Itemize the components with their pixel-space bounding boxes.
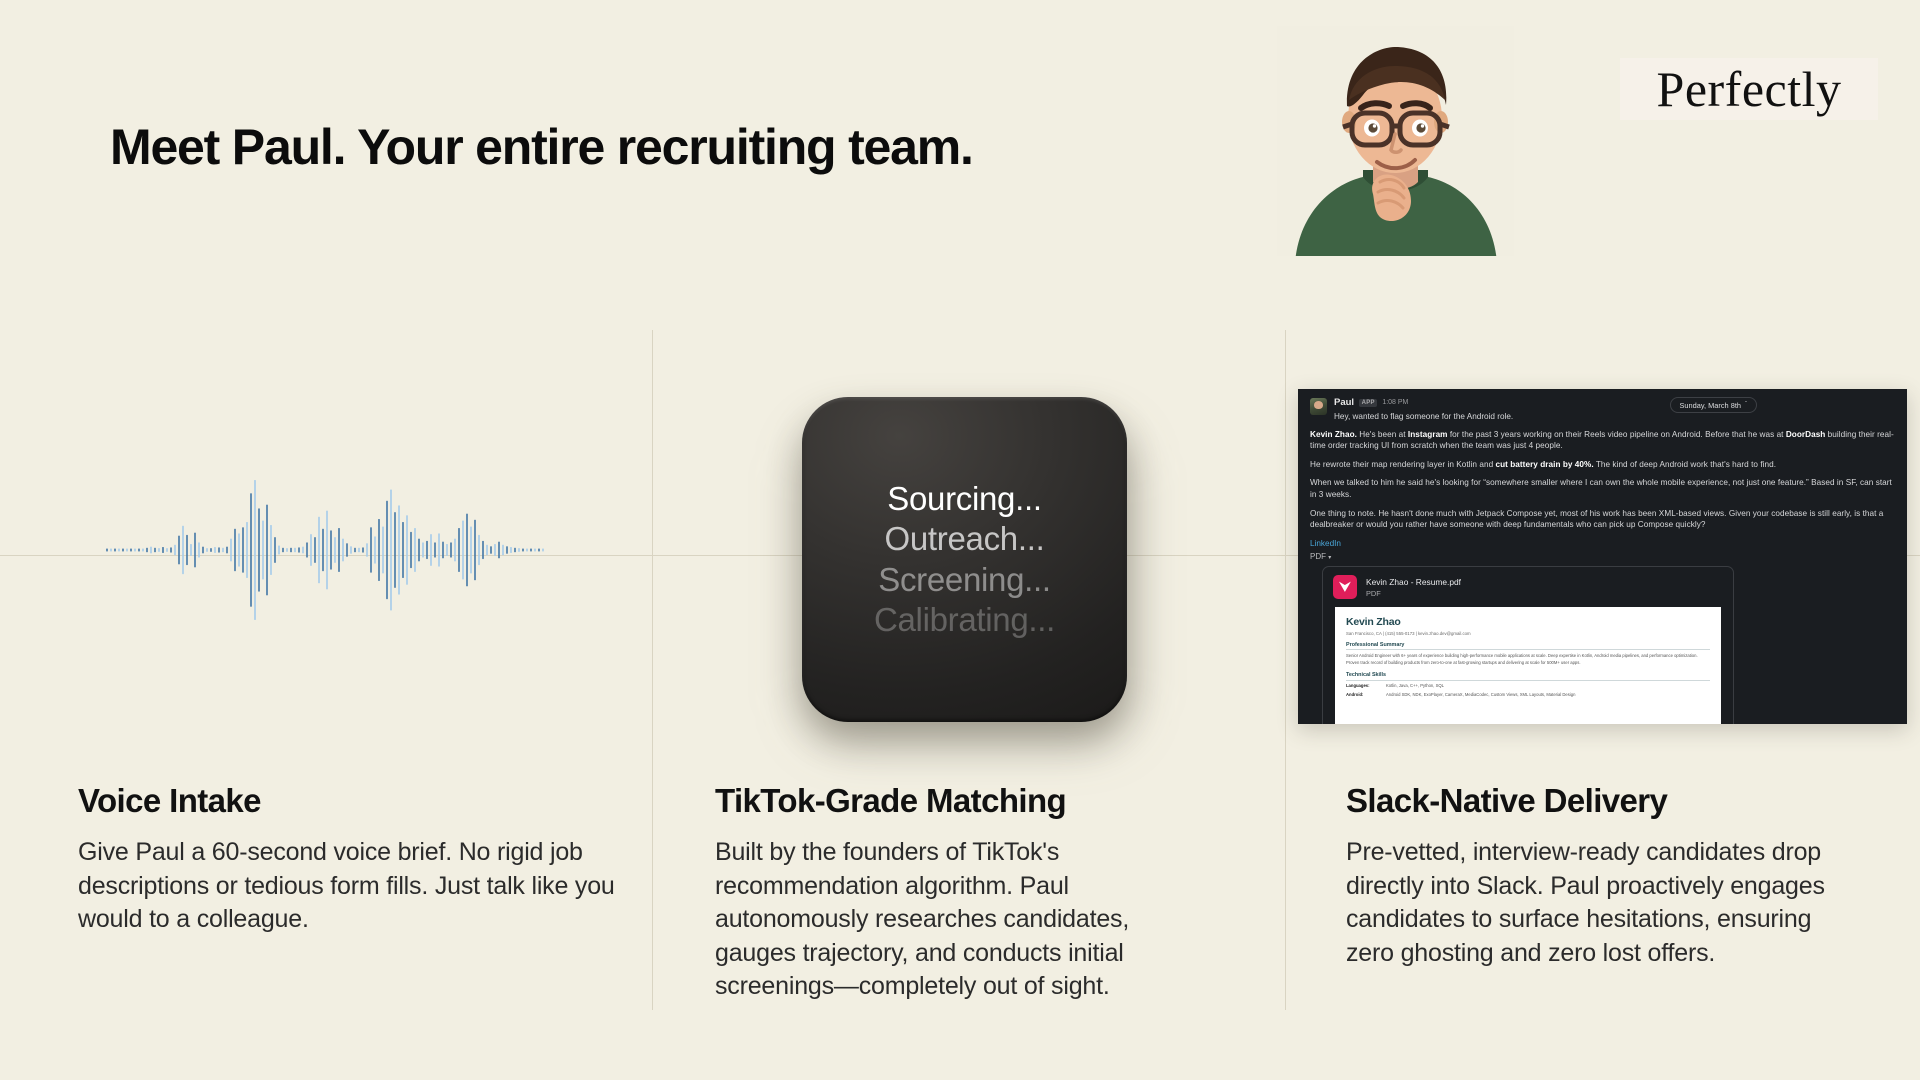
- slack-author-name[interactable]: Paul: [1334, 398, 1354, 408]
- slack-message-panel[interactable]: Sunday, March 8th ˇ Paul APP 1:08 PM Hey…: [1298, 389, 1907, 724]
- slack-date-label: Sunday, March 8th: [1680, 401, 1742, 410]
- divider-vertical-left: [652, 330, 653, 1010]
- slack-paragraph-2: When we talked to him he said he's looki…: [1310, 477, 1895, 500]
- brand-logo-text: Perfectly: [1657, 64, 1842, 114]
- resume-section-heading-0: Professional Summary: [1346, 642, 1710, 651]
- feature-title-0: Voice Intake: [78, 782, 618, 820]
- divider-vertical-right: [1285, 330, 1286, 1010]
- feature-body-2: Pre-vetted, interview-ready candidates d…: [1346, 836, 1856, 970]
- chip-status-line-1: Outreach...: [885, 519, 1045, 559]
- slack-paragraph-1: He rewrote their map rendering layer in …: [1310, 459, 1895, 471]
- resume-skill-key-1: Android:: [1346, 692, 1380, 698]
- page-title: Meet Paul. Your entire recruiting team.: [110, 118, 973, 176]
- feature-column-slack-delivery: Slack-Native Delivery Pre-vetted, interv…: [1346, 782, 1856, 970]
- slack-pdf-toggle-label: PDF: [1310, 552, 1326, 561]
- feature-title-2: Slack-Native Delivery: [1346, 782, 1856, 820]
- chip-status-line-2: Screening...: [878, 560, 1051, 600]
- feature-title-1: TikTok-Grade Matching: [715, 782, 1165, 820]
- resume-skill-row-0: Languages: Kotlin, Java, C++, Python, SQ…: [1346, 683, 1710, 689]
- voice-waveform-icon: [105, 470, 545, 630]
- resume-section-body-0: Senior Android Engineer with 6+ years of…: [1346, 653, 1710, 666]
- resume-contact-line: San Francisco, CA | (415) 555-0173 | kev…: [1346, 631, 1710, 636]
- feature-body-1: Built by the founders of TikTok's recomm…: [715, 836, 1165, 1004]
- resume-preview[interactable]: Kevin Zhao San Francisco, CA | (415) 555…: [1335, 607, 1721, 724]
- caret-down-icon: ▾: [1328, 555, 1331, 561]
- brand-logo: Perfectly: [1620, 58, 1878, 120]
- slack-first-line: Hey, wanted to flag someone for the Andr…: [1334, 411, 1895, 422]
- processing-chip: Sourcing... Outreach... Screening... Cal…: [802, 397, 1127, 722]
- slack-paragraph-0: Kevin Zhao. He's been at Instagram for t…: [1310, 429, 1895, 452]
- file-name: Kevin Zhao - Resume.pdf: [1366, 577, 1461, 587]
- slack-author-avatar: [1310, 398, 1327, 415]
- slack-message-body: Kevin Zhao. He's been at Instagram for t…: [1310, 429, 1895, 531]
- resume-skill-value-0: Kotlin, Java, C++, Python, SQL: [1386, 683, 1710, 689]
- feature-body-0: Give Paul a 60-second voice brief. No ri…: [78, 836, 618, 937]
- resume-section-heading-1: Technical Skills: [1346, 672, 1710, 681]
- slack-timestamp[interactable]: 1:08 PM: [1382, 399, 1408, 406]
- avatar: [1277, 26, 1514, 256]
- paul-avatar-illustration: [1277, 26, 1514, 256]
- resume-skill-value-1: Android SDK, NDK, ExoPlayer, CameraX, Me…: [1386, 692, 1710, 698]
- chip-status-line-3: Calibrating...: [874, 600, 1055, 640]
- feature-column-tiktok-matching: TikTok-Grade Matching Built by the found…: [715, 782, 1165, 1004]
- resume-skill-row-1: Android: Android SDK, NDK, ExoPlayer, Ca…: [1346, 692, 1710, 698]
- file-attachment-card[interactable]: ⮟ Kevin Zhao - Resume.pdf PDF Kevin Zhao…: [1322, 566, 1734, 724]
- file-type: PDF: [1366, 589, 1461, 598]
- chip-status-line-0: Sourcing...: [887, 479, 1041, 519]
- resume-skill-key-0: Languages:: [1346, 683, 1380, 689]
- slack-message-header: Paul APP 1:08 PM Hey, wanted to flag som…: [1310, 398, 1895, 422]
- slack-date-pill[interactable]: Sunday, March 8th ˇ: [1670, 397, 1758, 413]
- slack-linkedin-link[interactable]: LinkedIn: [1310, 539, 1895, 548]
- slack-app-badge: APP: [1359, 399, 1377, 407]
- pdf-file-icon: ⮟: [1333, 575, 1357, 599]
- slack-pdf-toggle[interactable]: PDF ▾: [1310, 552, 1895, 561]
- slide-canvas: Meet Paul. Your entire recruiting team.: [0, 0, 1920, 1080]
- slack-paragraph-3: One thing to note. He hasn't done much w…: [1310, 508, 1895, 531]
- chevron-down-icon: ˇ: [1745, 402, 1747, 408]
- resume-candidate-name: Kevin Zhao: [1346, 616, 1710, 628]
- feature-column-voice-intake: Voice Intake Give Paul a 60-second voice…: [78, 782, 618, 937]
